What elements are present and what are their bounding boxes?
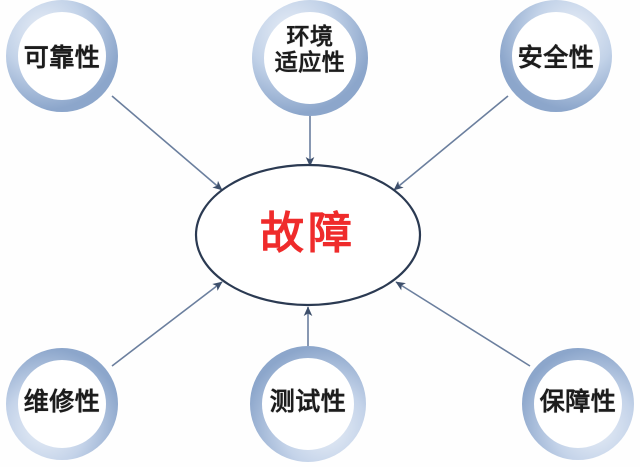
- node-circle-reliability[interactable]: [12, 6, 112, 106]
- connector-safety-to-center: [394, 96, 508, 190]
- connector-maintainability-to-center: [112, 282, 222, 366]
- center-ellipse[interactable]: [196, 165, 420, 305]
- node-circle-maintainability[interactable]: [12, 354, 112, 454]
- node-circle-supportability[interactable]: [528, 354, 628, 454]
- node-circle-safety[interactable]: [506, 6, 606, 106]
- node-circle-environmental-adaptability[interactable]: [258, 6, 362, 110]
- connector-reliability-to-center: [112, 96, 222, 190]
- diagram-svg: [0, 0, 640, 467]
- diagram-canvas: 可靠性 环境适应性 安全性 维修性 测试性 保障性 故障: [0, 0, 640, 467]
- connector-supportability-to-center: [396, 282, 530, 366]
- node-circle-testability[interactable]: [256, 352, 360, 456]
